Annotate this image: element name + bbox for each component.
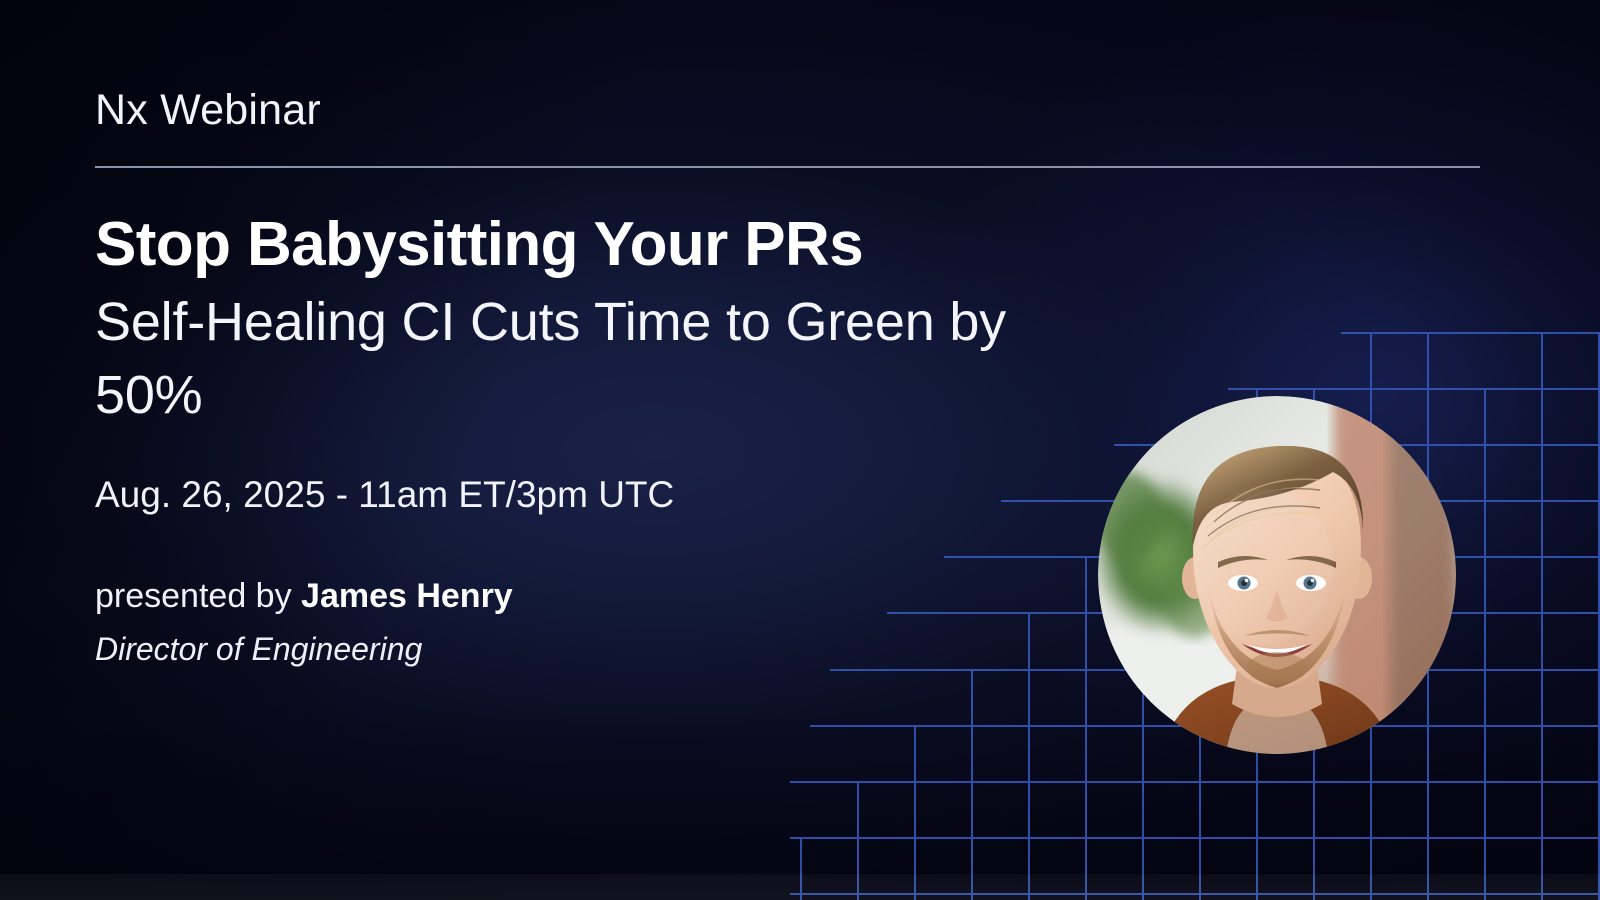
header-divider: [95, 166, 1480, 168]
webinar-content: Nx Webinar Stop Babysitting Your PRs Sel…: [95, 0, 1485, 667]
presenter-line: presented by James Henry: [95, 577, 1485, 616]
webinar-headline: Stop Babysitting Your PRs: [95, 212, 1485, 278]
presenter-name: James Henry: [301, 577, 513, 615]
presented-by-label: presented by: [95, 577, 301, 615]
page-title: Nx Webinar: [95, 88, 1485, 133]
presenter-role: Director of Engineering: [95, 631, 1485, 668]
webinar-datetime: Aug. 26, 2025 - 11am ET/3pm UTC: [95, 475, 1485, 516]
webinar-promo-banner: Nx Webinar Stop Babysitting Your PRs Sel…: [0, 0, 1600, 900]
webinar-subheadline: Self-Healing CI Cuts Time to Green by 50…: [95, 286, 1095, 433]
